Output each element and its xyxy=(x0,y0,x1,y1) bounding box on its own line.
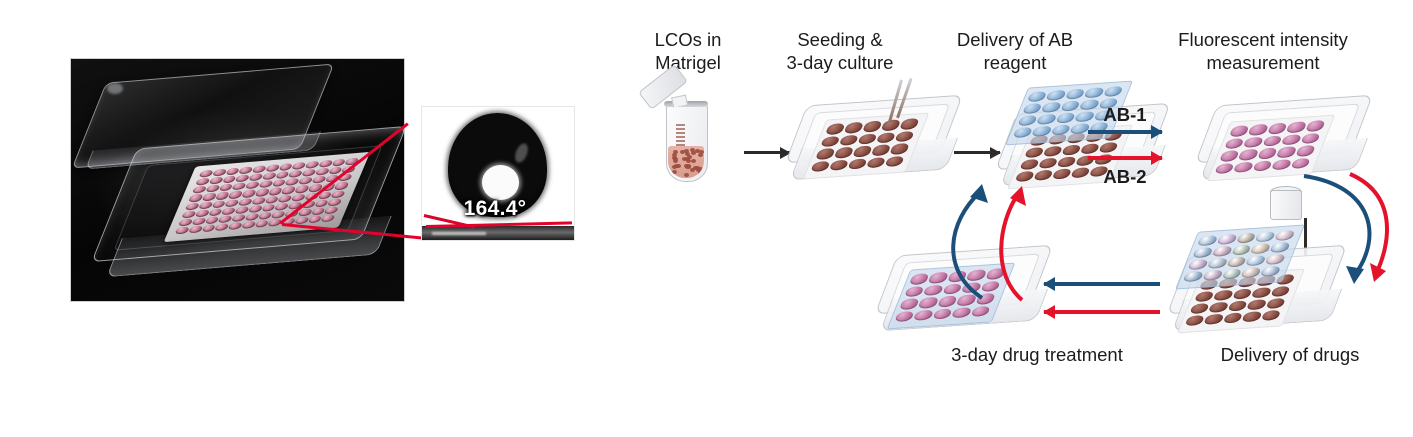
droplet xyxy=(852,145,873,157)
step-label-delivery-ab: Delivery of AB reagent xyxy=(930,28,1100,74)
well xyxy=(261,172,276,180)
droplet xyxy=(1305,120,1326,132)
arrow-ab1 xyxy=(1088,130,1162,134)
well xyxy=(221,176,236,184)
well xyxy=(181,210,196,218)
inset-substrate xyxy=(422,226,574,240)
droplet xyxy=(1103,86,1124,97)
droplet xyxy=(820,135,841,147)
droplet xyxy=(1187,259,1208,270)
well xyxy=(195,209,210,217)
well xyxy=(314,168,329,176)
droplet xyxy=(1207,258,1228,269)
droplet xyxy=(1031,126,1052,137)
well xyxy=(244,213,259,221)
well xyxy=(185,202,200,210)
droplet xyxy=(1065,88,1086,99)
well xyxy=(294,216,309,224)
droplet xyxy=(1050,124,1071,135)
droplet xyxy=(1013,127,1034,138)
droplet xyxy=(1185,315,1206,326)
droplet xyxy=(1189,303,1210,314)
lid-highlight xyxy=(107,83,123,94)
droplet xyxy=(1017,115,1038,126)
droplet xyxy=(904,286,925,298)
organoid-particle xyxy=(685,152,690,156)
well xyxy=(291,193,306,201)
droplet xyxy=(1043,146,1063,157)
well xyxy=(275,171,290,179)
droplet xyxy=(1226,256,1247,267)
organoid-particle xyxy=(673,157,678,161)
contact-angle-value: 164.4° xyxy=(422,197,568,221)
droplet xyxy=(1084,87,1105,98)
well xyxy=(234,206,249,214)
droplet xyxy=(1221,268,1242,279)
label-line-2: 3-day culture xyxy=(760,51,920,74)
droplet xyxy=(1274,230,1295,241)
droplet xyxy=(1276,146,1297,158)
droplet xyxy=(1265,298,1286,309)
well xyxy=(278,194,293,202)
droplet xyxy=(1255,231,1276,242)
well xyxy=(311,207,326,215)
droplet xyxy=(1052,168,1072,179)
well xyxy=(271,179,286,187)
step-label-drug-treatment: 3-day drug treatment xyxy=(912,343,1162,366)
well xyxy=(257,212,272,220)
droplet-inner-reflection xyxy=(482,165,519,200)
matrigel-tube xyxy=(644,80,734,195)
droplet xyxy=(1238,149,1259,161)
droplet xyxy=(1248,124,1269,136)
well xyxy=(284,178,299,186)
arrow-ab2 xyxy=(1088,156,1162,160)
step-label-fluorescent-measurement: Fluorescent intensity measurement xyxy=(1138,28,1388,74)
droplet xyxy=(1245,255,1266,266)
label-line-1: 3-day drug treatment xyxy=(912,343,1162,366)
well xyxy=(288,170,303,178)
well xyxy=(324,206,339,214)
droplet xyxy=(1260,310,1281,321)
step-label-lcos-in-matrigel: LCOs in Matrigel xyxy=(628,28,748,74)
droplet xyxy=(1231,244,1252,255)
droplet xyxy=(899,298,920,310)
well xyxy=(248,205,263,213)
well xyxy=(291,162,306,170)
droplet xyxy=(1038,158,1058,169)
well xyxy=(320,214,335,222)
well xyxy=(191,217,206,225)
well xyxy=(314,199,329,207)
droplet xyxy=(1290,157,1311,169)
workflow-diagram: LCOs in Matrigel Seeding & 3-day culture… xyxy=(620,0,1413,437)
droplet xyxy=(825,123,846,135)
droplet xyxy=(1260,266,1281,277)
droplet xyxy=(1233,161,1254,173)
well xyxy=(311,176,326,184)
label-line-1: Delivery of drugs xyxy=(1185,343,1395,366)
droplet xyxy=(829,159,850,171)
droplet xyxy=(1061,144,1081,155)
sandwich-plate-photograph xyxy=(70,58,405,302)
droplet xyxy=(951,307,972,319)
droplet xyxy=(1024,147,1044,158)
droplet xyxy=(1229,125,1250,137)
droplet xyxy=(1214,162,1235,174)
label-line-2: Matrigel xyxy=(628,51,748,74)
well xyxy=(211,200,226,208)
droplet xyxy=(1241,311,1262,322)
well xyxy=(251,197,266,205)
organoid-particle xyxy=(676,164,681,168)
well xyxy=(307,215,322,223)
well xyxy=(215,192,230,200)
droplet xyxy=(1281,134,1302,146)
droplet xyxy=(1080,143,1100,154)
well xyxy=(278,163,293,171)
droplet xyxy=(1246,299,1267,310)
well xyxy=(221,207,236,215)
droplet xyxy=(1216,234,1237,245)
droplet xyxy=(894,310,915,322)
well xyxy=(264,195,279,203)
droplet xyxy=(839,134,860,146)
label-line-2: reagent xyxy=(930,51,1100,74)
droplet xyxy=(844,122,865,134)
well xyxy=(261,204,276,212)
well xyxy=(235,174,250,182)
droplet xyxy=(1251,287,1272,298)
well xyxy=(195,178,210,186)
droplet xyxy=(1022,103,1043,114)
droplet xyxy=(1232,288,1253,299)
well xyxy=(231,183,246,191)
droplet xyxy=(1055,112,1076,123)
droplet xyxy=(1243,136,1264,148)
droplet xyxy=(1219,150,1240,162)
well xyxy=(238,198,253,206)
well xyxy=(218,184,233,192)
droplet xyxy=(1027,91,1048,102)
droplet xyxy=(810,160,831,172)
label-line-1: Fluorescent intensity xyxy=(1138,28,1388,51)
well xyxy=(251,165,266,173)
well xyxy=(241,190,256,198)
arrow-drugs-to-treatment-ab2 xyxy=(1044,310,1160,314)
well xyxy=(178,218,193,226)
step-label-delivery-drugs: Delivery of drugs xyxy=(1185,343,1395,366)
well xyxy=(241,221,256,229)
droplet xyxy=(1235,232,1256,243)
droplet xyxy=(1211,246,1232,257)
droplet xyxy=(1060,100,1081,111)
well xyxy=(318,160,333,168)
well xyxy=(305,161,320,169)
droplet xyxy=(1213,290,1234,301)
well xyxy=(208,208,223,216)
droplet xyxy=(1300,132,1321,144)
well xyxy=(208,177,223,185)
droplet xyxy=(1056,156,1076,167)
well xyxy=(198,201,213,209)
droplet xyxy=(1252,160,1273,172)
droplet xyxy=(899,118,920,130)
droplet xyxy=(1041,102,1062,113)
droplet xyxy=(1269,242,1290,253)
droplet xyxy=(1208,302,1229,313)
arrow-drugs-to-treatment-ab1 xyxy=(1044,282,1160,286)
well xyxy=(281,186,296,194)
well xyxy=(201,224,216,232)
droplet xyxy=(909,273,930,285)
organoid-particle xyxy=(691,159,696,163)
well xyxy=(212,169,227,177)
well xyxy=(268,187,283,195)
well xyxy=(214,223,229,231)
organoid-particle xyxy=(672,170,677,174)
droplet xyxy=(884,155,905,167)
droplet xyxy=(1197,235,1218,246)
well xyxy=(225,167,240,175)
organoid-particle xyxy=(698,153,703,157)
well xyxy=(188,225,203,233)
well xyxy=(188,194,203,202)
organoid-particle xyxy=(684,173,689,177)
arrow-seeding-to-ab xyxy=(954,151,1000,154)
label-line-1: Delivery of AB xyxy=(930,28,1100,51)
droplet xyxy=(876,132,897,144)
well xyxy=(201,193,216,201)
droplet xyxy=(970,305,991,317)
well xyxy=(238,166,253,174)
step-label-seeding-culture: Seeding & 3-day culture xyxy=(760,28,920,74)
arrow-label-ab2: AB-2 xyxy=(1080,166,1170,188)
droplet xyxy=(1224,138,1245,150)
label-line-2: measurement xyxy=(1138,51,1388,74)
droplet xyxy=(932,308,953,320)
droplet xyxy=(889,143,910,155)
label-line-1: Seeding & xyxy=(760,28,920,51)
figure-canvas: 164.4° LCOs in Matrigel Seeding & 3-day … xyxy=(0,0,1413,437)
droplet xyxy=(1046,90,1067,101)
droplet xyxy=(1203,314,1224,325)
tube-organoid-suspension xyxy=(668,146,704,178)
droplet xyxy=(1202,270,1223,281)
well xyxy=(228,222,243,230)
arrow-tube-to-seeding xyxy=(744,151,790,154)
droplet xyxy=(1227,300,1248,311)
droplet xyxy=(1270,286,1291,297)
droplet xyxy=(1265,254,1286,265)
droplet xyxy=(857,133,878,145)
well xyxy=(205,185,220,193)
well xyxy=(265,164,280,172)
well xyxy=(228,191,243,199)
well xyxy=(331,190,346,198)
droplet xyxy=(1295,145,1316,157)
well xyxy=(254,220,269,228)
well xyxy=(231,214,246,222)
droplet xyxy=(834,147,855,159)
well xyxy=(274,202,289,210)
well xyxy=(327,198,342,206)
droplet xyxy=(894,130,915,142)
droplet xyxy=(815,148,836,160)
well xyxy=(254,188,269,196)
droplet xyxy=(1192,247,1213,258)
droplet xyxy=(913,309,934,321)
droplet xyxy=(1250,243,1271,254)
well xyxy=(248,173,263,181)
droplet xyxy=(1222,312,1243,323)
arrow-label-ab1: AB-1 xyxy=(1080,104,1170,126)
droplet xyxy=(862,121,883,133)
droplet xyxy=(1098,142,1118,153)
well xyxy=(192,186,207,194)
droplet xyxy=(1271,159,1292,171)
well xyxy=(245,181,260,189)
well xyxy=(198,170,213,178)
cycle-arrows-left xyxy=(936,178,1054,304)
droplet xyxy=(1019,159,1039,170)
well xyxy=(225,199,240,207)
well xyxy=(218,215,233,223)
well xyxy=(174,226,189,234)
substrate-highlight xyxy=(432,232,486,235)
droplet xyxy=(1262,135,1283,147)
well xyxy=(301,169,316,177)
droplet xyxy=(1036,114,1057,125)
droplet xyxy=(871,144,892,156)
droplet xyxy=(1286,121,1307,133)
contact-angle-inset: 164.4° xyxy=(421,106,575,241)
droplet xyxy=(1267,122,1288,134)
well xyxy=(204,216,219,224)
well xyxy=(331,159,346,167)
droplet xyxy=(1241,267,1262,278)
label-line-1: LCOs in xyxy=(628,28,748,51)
droplet xyxy=(847,158,868,170)
droplet xyxy=(1194,291,1215,302)
droplet xyxy=(1257,147,1278,159)
well xyxy=(294,185,309,193)
droplet xyxy=(866,157,887,169)
organoid-particle xyxy=(693,166,698,170)
well xyxy=(298,177,313,185)
well xyxy=(258,180,273,188)
well xyxy=(334,182,349,190)
droplet xyxy=(1183,271,1204,282)
